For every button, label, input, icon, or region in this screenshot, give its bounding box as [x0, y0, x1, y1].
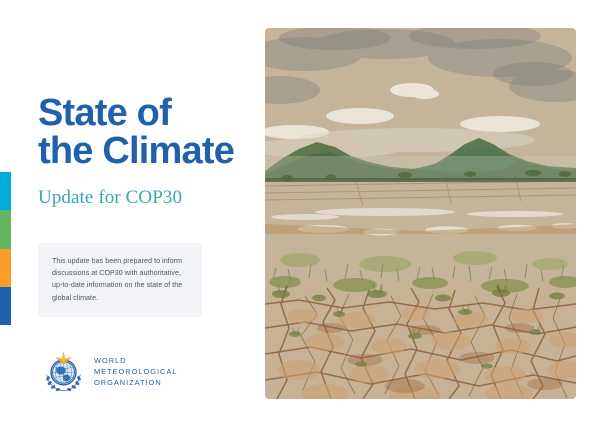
wmo-color-stripe [0, 172, 11, 325]
stripe-segment-green [0, 210, 11, 248]
info-callout-box: This update has been prepared to inform … [38, 243, 202, 317]
info-callout-text: This update has been prepared to inform … [52, 255, 188, 304]
cover-photo [265, 28, 576, 399]
wmo-emblem-globe-wheat-star-icon [42, 350, 85, 393]
title-block: State of the Climate Update for COP30 [38, 95, 253, 209]
page-title: State of the Climate [38, 95, 253, 170]
page-subtitle: Update for COP30 [38, 187, 253, 209]
stripe-segment-blue [0, 287, 11, 325]
wmo-wordmark: WORLD METEOROLOGICAL ORGANIZATION [94, 355, 177, 388]
wmo-logo: WORLD METEOROLOGICAL ORGANIZATION [42, 350, 177, 393]
stripe-segment-cyan [0, 172, 11, 210]
drought-landscape-illustration [265, 28, 576, 399]
stripe-segment-orange [0, 249, 11, 287]
